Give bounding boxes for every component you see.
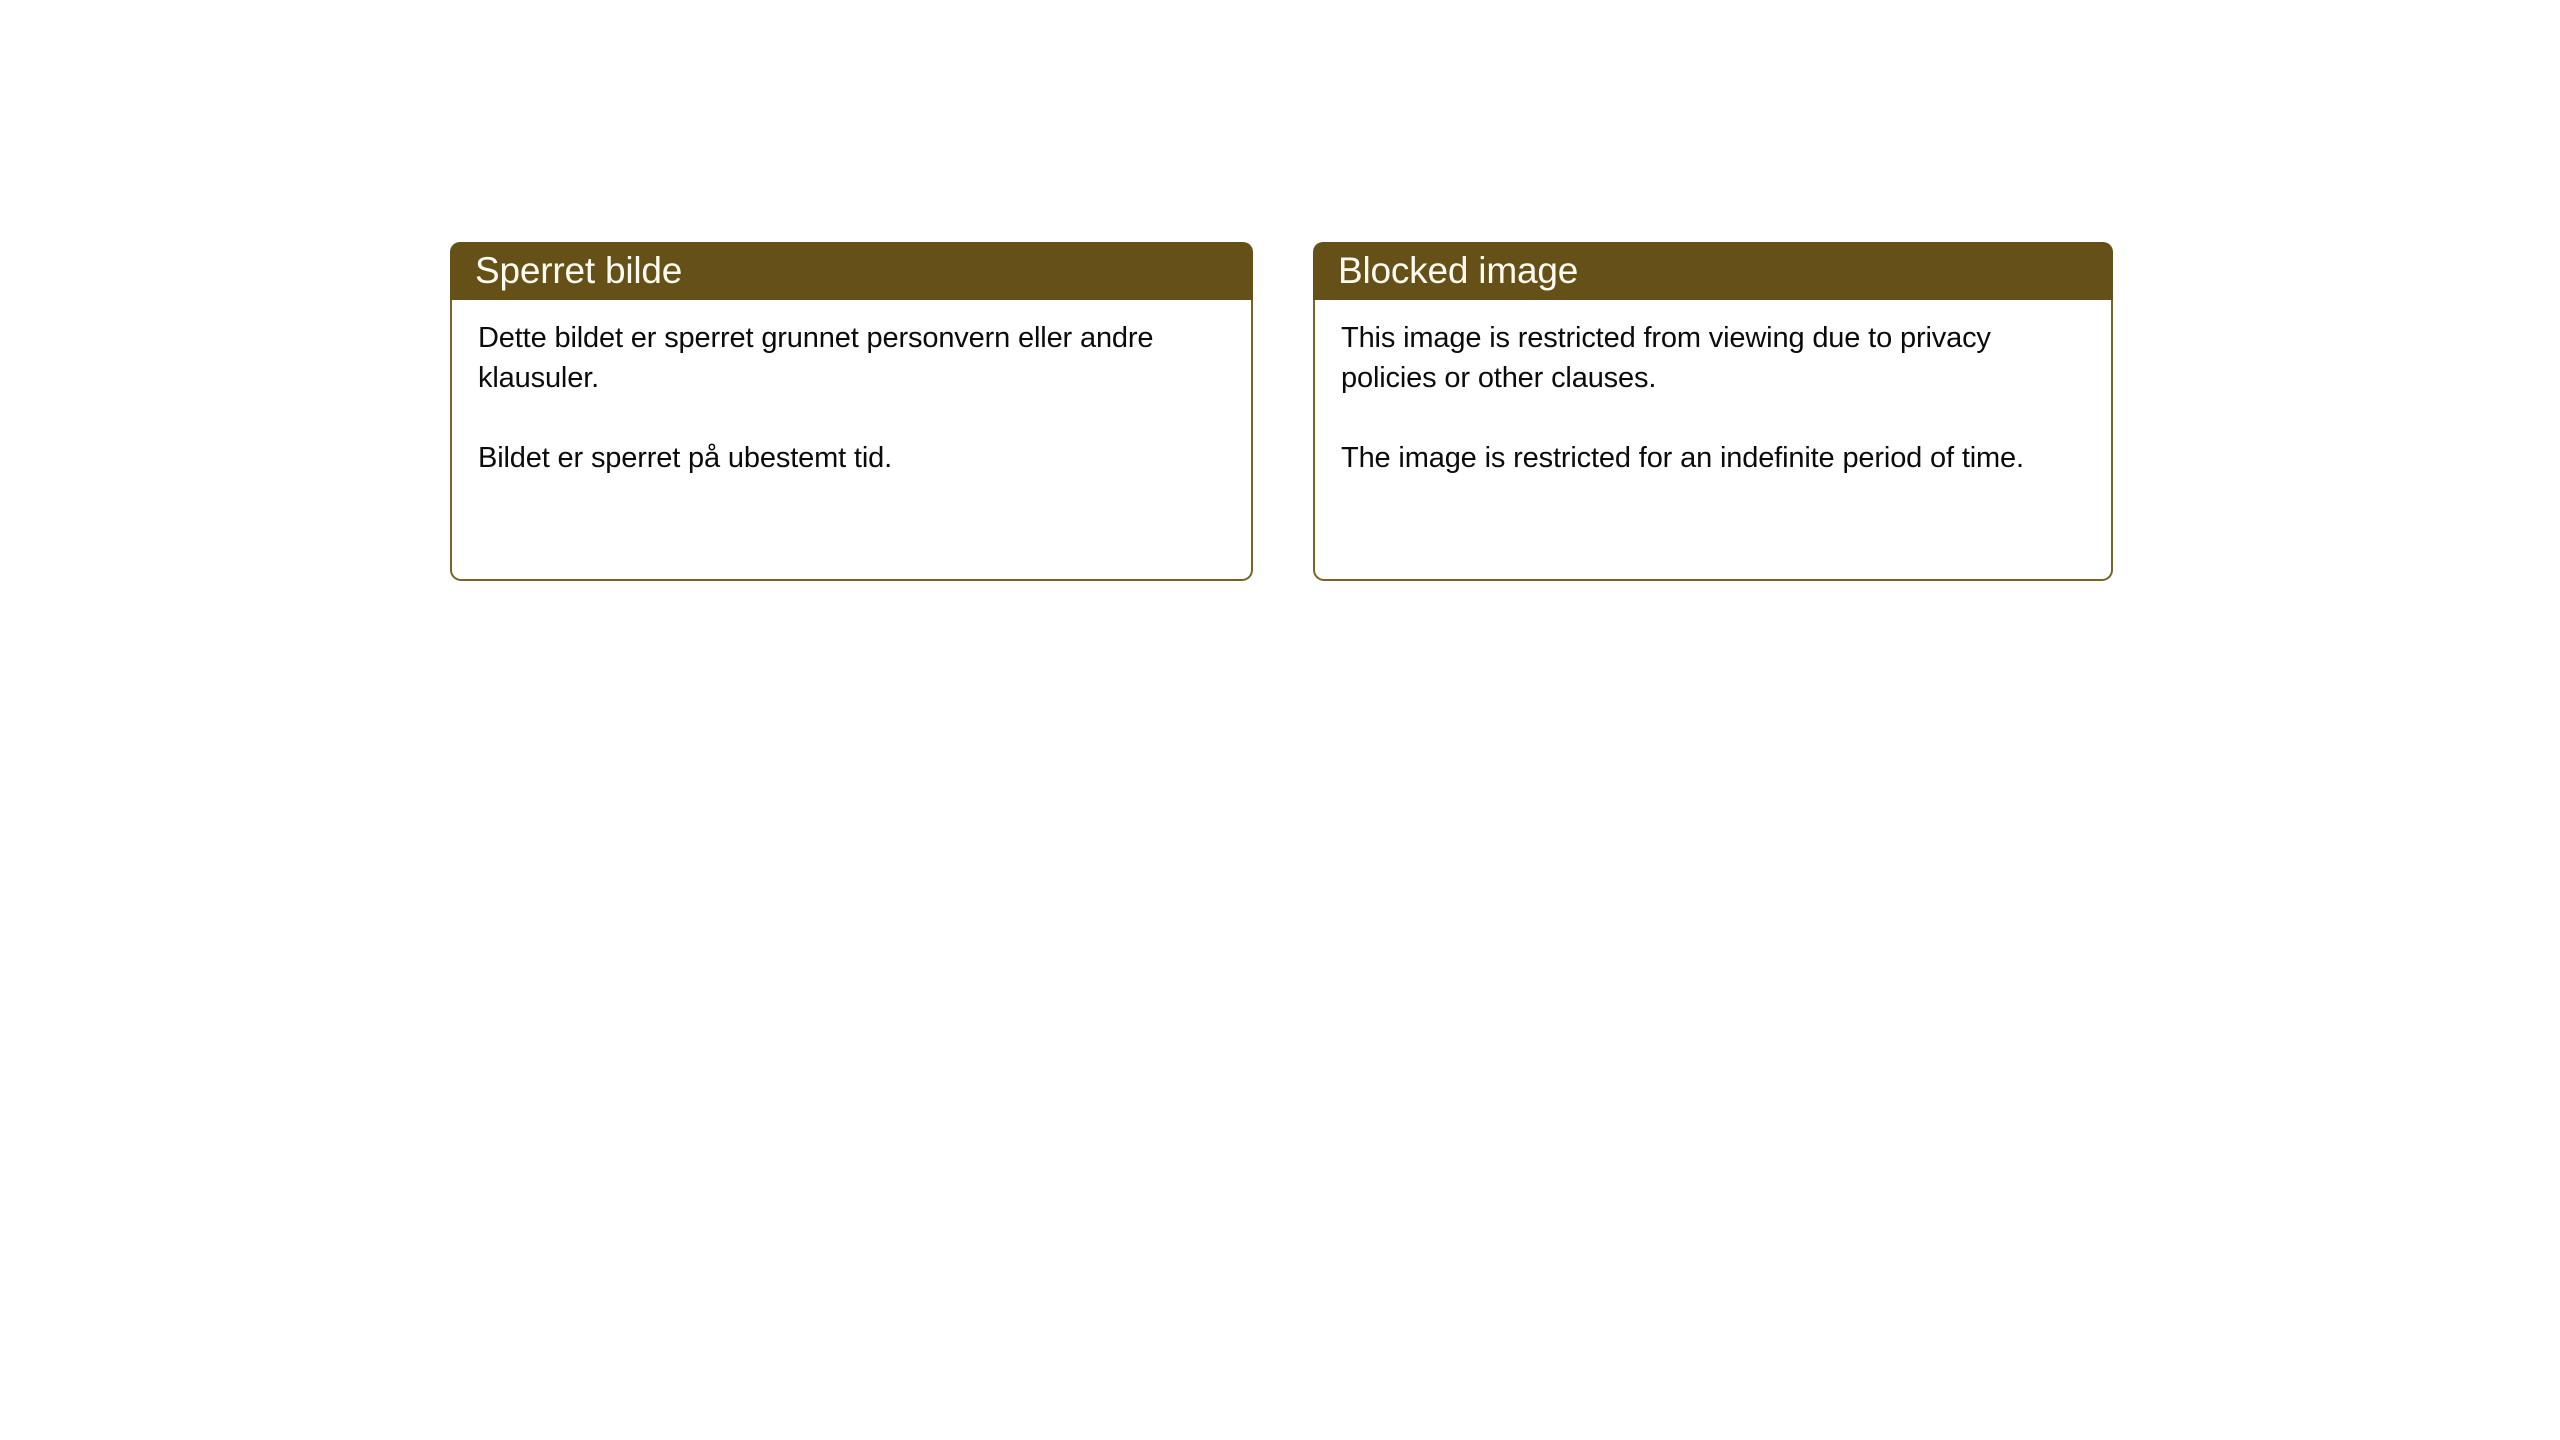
page-canvas: Sperret bilde Dette bildet er sperret gr… [0, 0, 2560, 1440]
card-header-en: Blocked image [1313, 242, 2113, 300]
card-body-en: This image is restricted from viewing du… [1313, 300, 2113, 581]
card-paragraph-secondary-en: The image is restricted for an indefinit… [1341, 438, 2089, 478]
paragraph-spacer-en [1341, 398, 2089, 438]
card-header-no: Sperret bilde [450, 242, 1253, 300]
blocked-image-notice-card-en: Blocked image This image is restricted f… [1313, 242, 2113, 581]
card-title-en: Blocked image [1338, 252, 1578, 289]
card-title-no: Sperret bilde [475, 252, 682, 289]
card-paragraph-primary-no: Dette bildet er sperret grunnet personve… [478, 318, 1229, 398]
card-paragraph-secondary-no: Bildet er sperret på ubestemt tid. [478, 438, 1229, 478]
blocked-image-notice-card-no: Sperret bilde Dette bildet er sperret gr… [450, 242, 1253, 581]
card-body-no: Dette bildet er sperret grunnet personve… [450, 300, 1253, 581]
paragraph-spacer-no [478, 398, 1229, 438]
card-paragraph-primary-en: This image is restricted from viewing du… [1341, 318, 2089, 398]
